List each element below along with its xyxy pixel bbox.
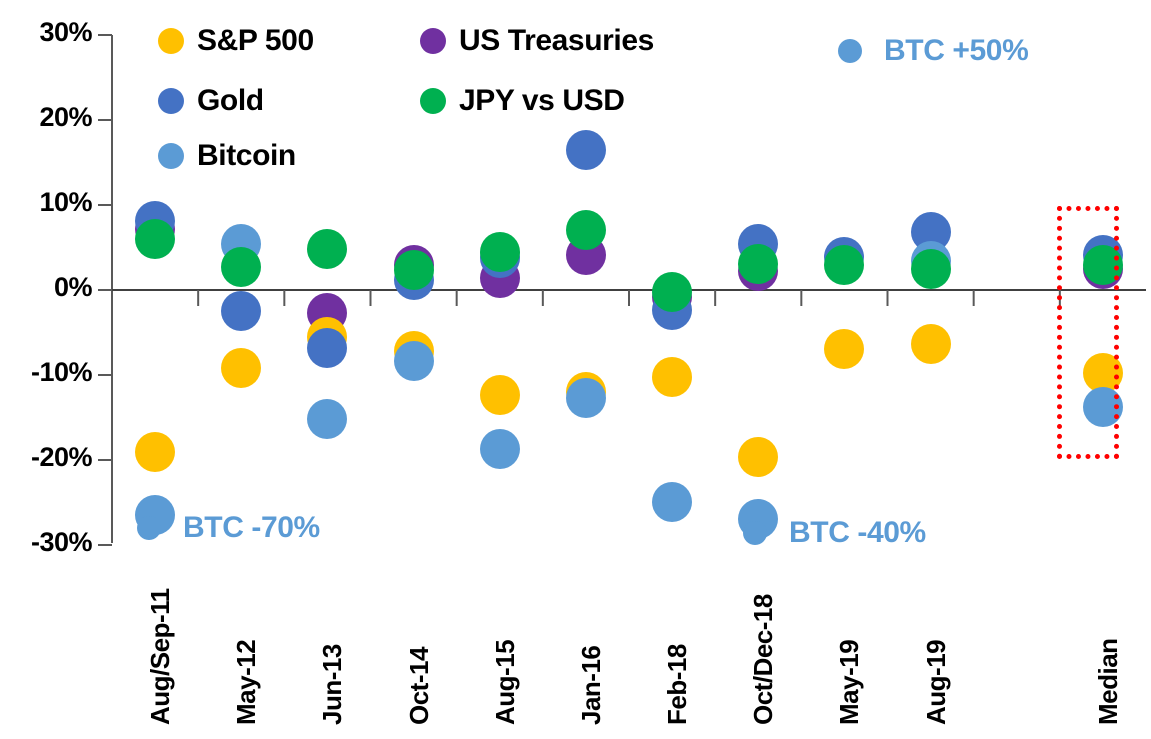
data-point: [1083, 387, 1123, 427]
legend-item[interactable]: Bitcoin: [158, 139, 296, 173]
x-axis-tick-label: Median: [1093, 638, 1124, 725]
y-axis-tick-label: 30%: [39, 17, 92, 48]
legend-item[interactable]: S&P 500: [158, 24, 314, 58]
legend-label: S&P 500: [197, 24, 314, 58]
legend-marker-icon: [158, 143, 184, 169]
annotation-btc-plus-50: BTC +50%: [838, 34, 1028, 68]
x-axis-tick-label: May-19: [834, 640, 865, 725]
data-point: [135, 432, 175, 472]
annotation-btc-minus-40: BTC -40%: [743, 516, 926, 550]
y-axis-tick-label: -30%: [31, 527, 92, 558]
x-axis-tick-label: May-12: [231, 640, 262, 725]
data-point: [566, 210, 606, 250]
y-axis-tick-label: 0%: [54, 272, 92, 303]
legend-marker-icon: [158, 88, 184, 114]
legend-item[interactable]: US Treasuries: [420, 24, 654, 58]
x-axis-tick-label: Aug-15: [490, 640, 521, 725]
data-point: [652, 357, 692, 397]
y-axis-tick-label: -10%: [31, 357, 92, 388]
x-axis-tick-label: Oct/Dec-18: [748, 594, 779, 725]
x-axis-tick-label: Feb-18: [662, 644, 693, 725]
annotation-label: BTC -40%: [789, 516, 926, 550]
y-axis-tick-label: -20%: [31, 442, 92, 473]
data-point: [652, 482, 692, 522]
annotation-label: BTC -70%: [183, 511, 320, 545]
legend-marker-icon: [420, 88, 446, 114]
data-point: [480, 429, 520, 469]
x-axis-tick-label: Oct-14: [404, 647, 435, 725]
legend-marker-icon: [158, 28, 184, 54]
data-point: [307, 328, 347, 368]
data-point: [480, 375, 520, 415]
data-point: [566, 130, 606, 170]
data-point: [135, 219, 175, 259]
legend-item[interactable]: Gold: [158, 84, 264, 118]
data-point: [566, 378, 606, 418]
x-axis-tick-label: Aug-19: [921, 640, 952, 725]
data-point: [480, 232, 520, 272]
y-axis-tick-label: 10%: [39, 187, 92, 218]
x-axis-tick-label: Aug/Sep-11: [145, 588, 176, 725]
legend-label: Bitcoin: [197, 139, 296, 173]
data-point: [824, 329, 864, 369]
data-point: [394, 341, 434, 381]
data-point: [911, 249, 951, 289]
scatter-chart: 30%20%10%0%-10%-20%-30% Aug/Sep-11May-12…: [0, 0, 1151, 739]
legend-label: JPY vs USD: [459, 84, 625, 118]
y-axis-tick-label: 20%: [39, 102, 92, 133]
annotation-label: BTC +50%: [884, 34, 1028, 68]
data-point: [911, 324, 951, 364]
annotation-marker-icon: [838, 39, 862, 63]
legend-label: US Treasuries: [459, 24, 654, 58]
legend-label: Gold: [197, 84, 264, 118]
annotation-marker-icon: [743, 521, 767, 545]
data-point: [652, 272, 692, 312]
legend-marker-icon: [420, 28, 446, 54]
annotation-btc-minus-70: BTC -70%: [137, 511, 320, 545]
x-axis-tick-label: Jun-13: [317, 644, 348, 725]
annotation-marker-icon: [137, 516, 161, 540]
data-point: [738, 244, 778, 284]
x-axis-tick-label: Jan-16: [576, 646, 607, 725]
legend-item[interactable]: JPY vs USD: [420, 84, 625, 118]
data-point: [394, 250, 434, 290]
data-point: [1083, 245, 1123, 285]
